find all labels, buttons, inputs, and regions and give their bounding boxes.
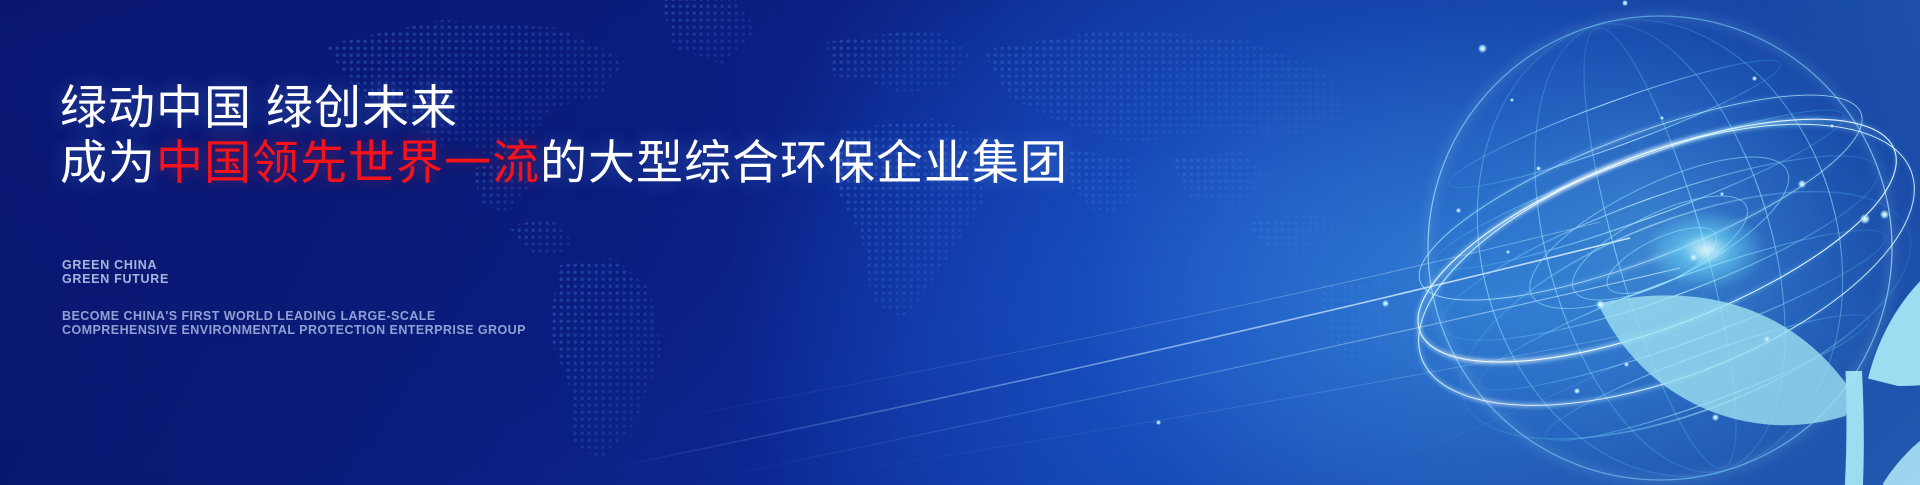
headline-line-2: 成为中国领先世界一流的大型综合环保企业集团 (60, 139, 1068, 186)
particle (1798, 180, 1806, 188)
particle (1506, 250, 1510, 254)
tagline-line-1: GREEN CHINA (62, 258, 169, 272)
particle (1456, 208, 1461, 213)
particle (1690, 254, 1697, 261)
particle (1478, 44, 1487, 53)
particle (1536, 166, 1541, 171)
banner-copy: 绿动中国 绿创未来 成为中国领先世界一流的大型综合环保企业集团 GREEN CH… (58, 0, 1058, 485)
particle (1660, 116, 1664, 120)
subtitle-line-1: BECOME CHINA'S FIRST WORLD LEADING LARGE… (62, 309, 526, 323)
headline-line-2-highlight: 中国领先世界一流 (156, 136, 540, 189)
tagline: GREEN CHINA GREEN FUTURE (62, 258, 169, 286)
particle (1510, 98, 1514, 102)
tagline-line-2: GREEN FUTURE (62, 272, 169, 286)
particle (1596, 300, 1605, 309)
particle (1382, 300, 1389, 307)
particle (1860, 214, 1870, 224)
particle (1574, 388, 1580, 394)
headline-line-1: 绿动中国 绿创未来 (60, 84, 458, 131)
wireframe-globe (1360, 0, 1920, 485)
particle (1156, 420, 1161, 425)
particle (1622, 0, 1628, 6)
particle (1712, 414, 1719, 421)
particle (1720, 192, 1724, 196)
headline-line-2-prefix: 成为 (60, 136, 156, 189)
hero-banner: 绿动中国 绿创未来 成为中国领先世界一流的大型综合环保企业集团 GREEN CH… (0, 0, 1920, 485)
particle (1752, 76, 1757, 81)
particle (1624, 362, 1629, 367)
particle (1764, 336, 1770, 342)
headline-line-2-suffix: 的大型综合环保企业集团 (540, 136, 1068, 189)
particle (1880, 210, 1889, 219)
globe-core-glow (1646, 210, 1766, 290)
particle (1830, 124, 1834, 128)
sprout-leaf-icon (1568, 116, 1920, 485)
subtitle-line-2: COMPREHENSIVE ENVIRONMENTAL PROTECTION E… (62, 323, 526, 337)
subtitle: BECOME CHINA'S FIRST WORLD LEADING LARGE… (62, 309, 526, 337)
